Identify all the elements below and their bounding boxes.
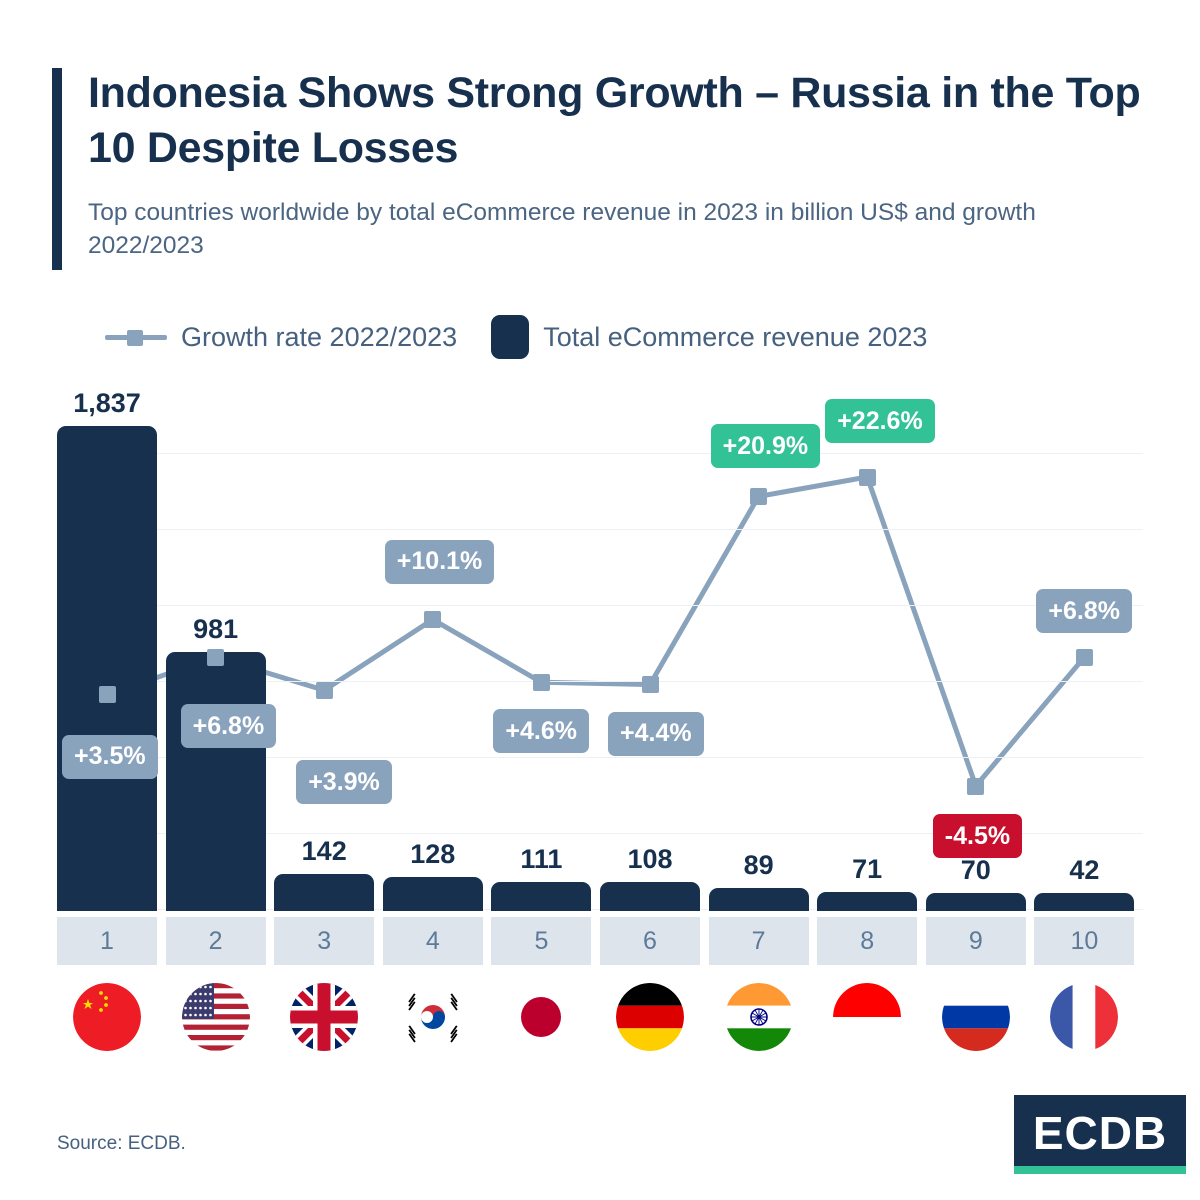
bar-value-label: 89 — [709, 850, 809, 881]
growth-marker[interactable] — [750, 488, 767, 505]
flag-india-icon[interactable] — [725, 983, 793, 1051]
bar-value-label: 71 — [817, 854, 917, 885]
flag-france-icon[interactable] — [1050, 983, 1118, 1051]
growth-rate-badge[interactable]: +10.1% — [385, 540, 495, 584]
growth-marker[interactable] — [99, 686, 116, 703]
rank-box-7[interactable]: 7 — [709, 917, 809, 965]
growth-marker[interactable] — [967, 778, 984, 795]
growth-rate-badge[interactable]: +22.6% — [825, 399, 935, 443]
revenue-bar[interactable] — [274, 874, 374, 911]
rank-box-3[interactable]: 3 — [274, 917, 374, 965]
chart-plot-area: 1,8371+3.5%9812+6.8%1423+3.9%1284+10.1%1… — [0, 0, 1200, 1200]
growth-line-svg — [0, 0, 1200, 1200]
bar-value-label: 70 — [926, 855, 1026, 886]
growth-rate-badge[interactable]: +3.5% — [62, 735, 158, 779]
ecdb-logo: ECDB — [1014, 1095, 1186, 1171]
source-note: Source: ECDB. — [57, 1133, 186, 1155]
growth-rate-badge[interactable]: +4.4% — [608, 712, 704, 756]
revenue-bar[interactable] — [166, 652, 266, 911]
flag-indonesia-icon[interactable] — [833, 983, 901, 1051]
bar-value-label: 108 — [600, 844, 700, 875]
growth-rate-badge[interactable]: +4.6% — [493, 709, 589, 753]
growth-rate-badge[interactable]: +20.9% — [711, 424, 821, 468]
flag-russia-icon[interactable] — [942, 983, 1010, 1051]
growth-rate-badge[interactable]: +3.9% — [296, 760, 392, 804]
ecdb-logo-text: ECDB — [1033, 1106, 1167, 1160]
bar-value-label: 128 — [383, 839, 483, 870]
rank-box-5[interactable]: 5 — [491, 917, 591, 965]
bar-value-label: 981 — [166, 614, 266, 645]
growth-marker[interactable] — [316, 682, 333, 699]
gridline — [57, 605, 1143, 606]
rank-box-10[interactable]: 10 — [1034, 917, 1134, 965]
bar-value-label: 1,837 — [57, 388, 157, 419]
infographic-root: Indonesia Shows Strong Growth – Russia i… — [0, 0, 1200, 1200]
flag-germany-icon[interactable] — [616, 983, 684, 1051]
growth-rate-badge[interactable]: +6.8% — [181, 704, 277, 748]
growth-marker[interactable] — [424, 611, 441, 628]
ecdb-logo-underline — [1014, 1166, 1186, 1174]
growth-rate-badge[interactable]: -4.5% — [933, 814, 1022, 858]
gridline — [57, 529, 1143, 530]
flag-usa-icon[interactable] — [182, 983, 250, 1051]
flag-south-korea-icon[interactable] — [399, 983, 467, 1051]
growth-rate-badge[interactable]: +6.8% — [1036, 589, 1132, 633]
growth-marker[interactable] — [207, 649, 224, 666]
revenue-bar[interactable] — [600, 882, 700, 911]
growth-marker[interactable] — [533, 674, 550, 691]
revenue-bar[interactable] — [57, 426, 157, 911]
rank-box-9[interactable]: 9 — [926, 917, 1026, 965]
flag-china-icon[interactable] — [73, 983, 141, 1051]
gridline — [57, 453, 1143, 454]
rank-box-1[interactable]: 1 — [57, 917, 157, 965]
growth-marker[interactable] — [642, 676, 659, 693]
growth-marker[interactable] — [859, 469, 876, 486]
revenue-bar[interactable] — [817, 892, 917, 911]
revenue-bar[interactable] — [1034, 893, 1134, 911]
revenue-bar[interactable] — [709, 888, 809, 911]
revenue-bar[interactable] — [926, 893, 1026, 911]
bar-value-label: 42 — [1034, 855, 1134, 886]
bar-value-label: 111 — [491, 844, 591, 875]
rank-box-6[interactable]: 6 — [600, 917, 700, 965]
flag-uk-icon[interactable] — [290, 983, 358, 1051]
revenue-bar[interactable] — [491, 882, 591, 911]
growth-marker[interactable] — [1076, 649, 1093, 666]
rank-box-8[interactable]: 8 — [817, 917, 917, 965]
flag-japan-icon[interactable] — [507, 983, 575, 1051]
rank-box-2[interactable]: 2 — [166, 917, 266, 965]
bar-value-label: 142 — [274, 836, 374, 867]
rank-box-4[interactable]: 4 — [383, 917, 483, 965]
revenue-bar[interactable] — [383, 877, 483, 911]
